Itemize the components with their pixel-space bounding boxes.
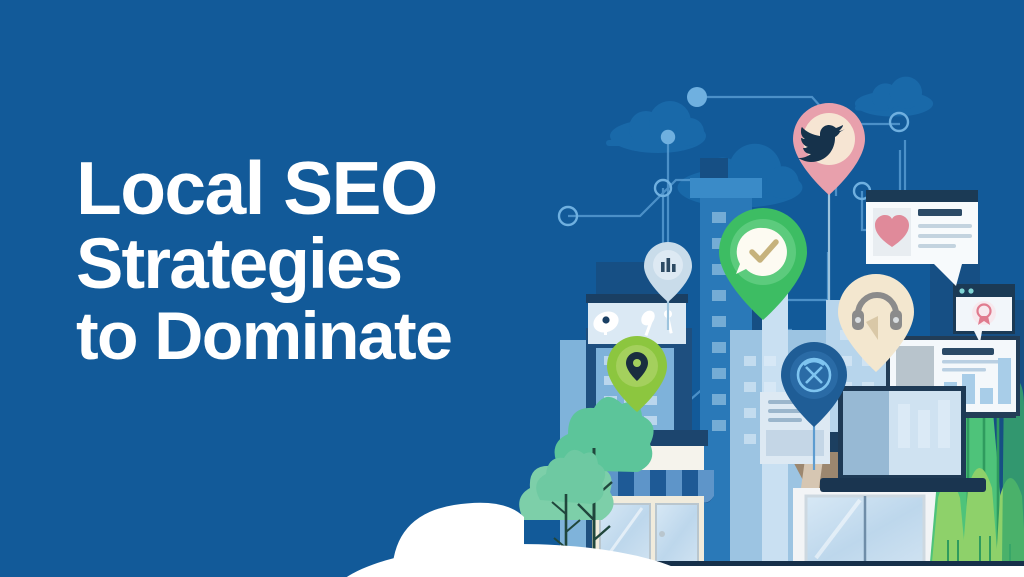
local-seo-city-illustration: [0, 0, 1024, 577]
banner-root: Local SEO Strategies to Dominate: [0, 0, 1024, 577]
laptop-screen: [820, 386, 986, 492]
award-badge-icon: [972, 301, 996, 325]
